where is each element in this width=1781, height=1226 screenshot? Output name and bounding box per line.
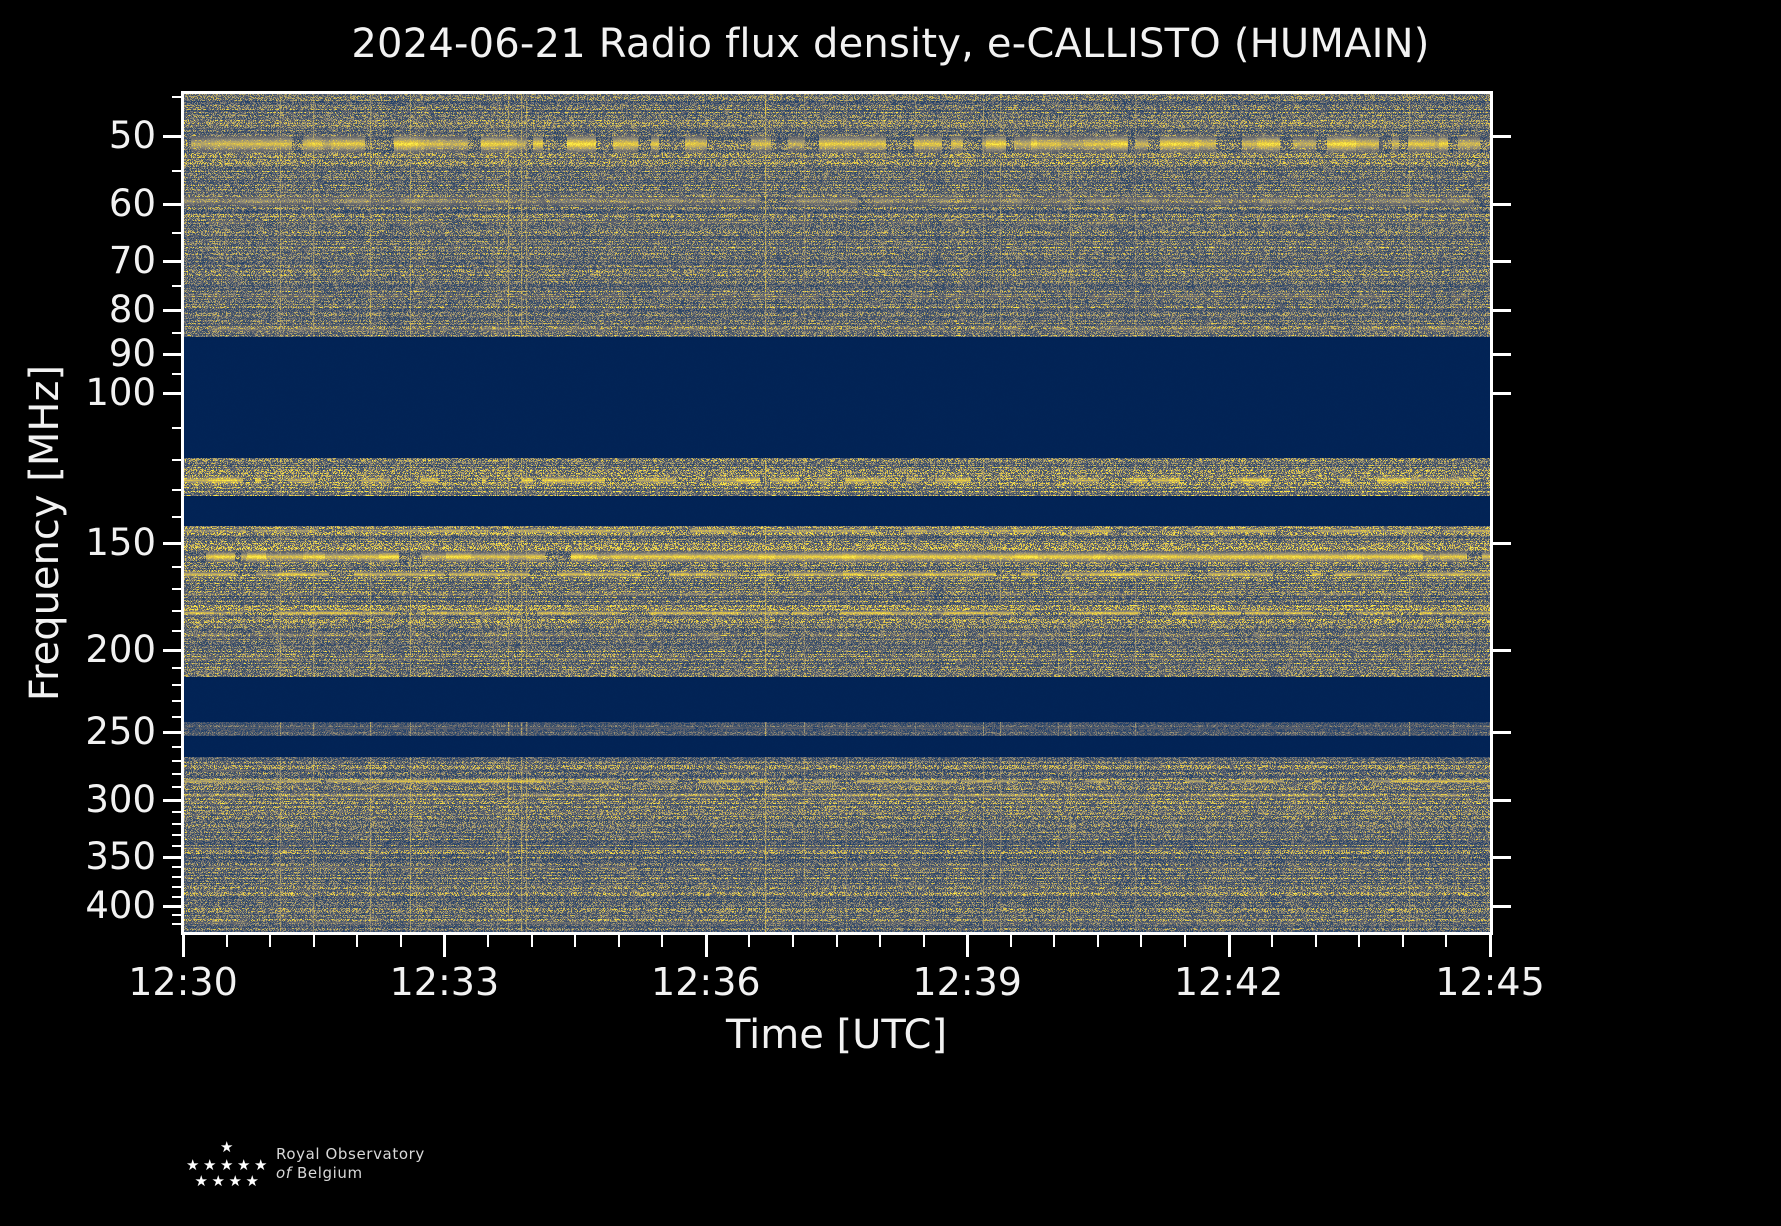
y-minor-tick xyxy=(172,876,183,878)
y-tick-label-70: 70 xyxy=(109,242,156,279)
star-icon: ★ xyxy=(254,1158,267,1173)
star-icon: ★ xyxy=(195,1174,208,1189)
y-tick-label-250: 250 xyxy=(85,713,156,750)
x-minor-tick xyxy=(269,935,271,947)
y-minor-tick xyxy=(172,760,183,762)
y-minor-tick xyxy=(172,516,183,518)
star-icon: ★ xyxy=(220,1158,233,1173)
y-tick-label-50: 50 xyxy=(109,117,156,154)
y-minor-tick xyxy=(172,427,183,429)
y-minor-tick xyxy=(172,773,183,775)
star-icon: ★ xyxy=(212,1174,225,1189)
x-minor-tick xyxy=(226,935,228,947)
y-minor-tick xyxy=(172,786,183,788)
x-tick-12:45 xyxy=(1489,935,1492,957)
y-minor-tick xyxy=(172,886,183,888)
x-minor-tick xyxy=(1271,935,1273,947)
y-tick-right-300 xyxy=(1491,799,1511,802)
y-tick-350 xyxy=(163,856,183,859)
x-minor-tick xyxy=(574,935,576,947)
x-tick-label-12:36: 12:36 xyxy=(651,962,761,1002)
y-minor-tick xyxy=(172,845,183,847)
y-tick-right-350 xyxy=(1491,856,1511,859)
y-tick-label-300: 300 xyxy=(85,781,156,818)
y-tick-300 xyxy=(163,799,183,802)
y-minor-tick xyxy=(172,834,183,836)
x-minor-tick xyxy=(1445,935,1447,947)
x-minor-tick xyxy=(836,935,838,947)
spectrogram-plot-area[interactable] xyxy=(183,93,1490,933)
y-minor-tick xyxy=(172,489,183,491)
y-axis-label: Frequency [MHz] xyxy=(25,113,65,953)
x-minor-tick xyxy=(1402,935,1404,947)
logo-line-2: of Belgium xyxy=(276,1164,425,1183)
x-minor-tick xyxy=(313,935,315,947)
y-minor-tick xyxy=(172,914,183,916)
axis-spine-right xyxy=(1490,91,1493,935)
x-minor-tick xyxy=(661,935,663,947)
y-minor-tick xyxy=(172,667,183,669)
star-icon: ★ xyxy=(246,1174,259,1189)
y-tick-right-60 xyxy=(1491,203,1511,206)
y-tick-label-200: 200 xyxy=(85,631,156,668)
x-tick-12:33 xyxy=(443,935,446,957)
y-minor-tick xyxy=(172,285,183,287)
x-minor-tick xyxy=(1140,935,1142,947)
x-minor-tick xyxy=(618,935,620,947)
y-tick-200 xyxy=(163,649,183,652)
y-tick-right-250 xyxy=(1491,731,1511,734)
spectrogram-image xyxy=(183,93,1490,933)
logo-of: of xyxy=(276,1164,292,1182)
y-tick-50 xyxy=(163,135,183,138)
y-tick-150 xyxy=(163,542,183,545)
y-tick-label-150: 150 xyxy=(85,524,156,561)
stars-icon: ★★★★★★★★★★ xyxy=(178,1138,262,1190)
y-tick-right-50 xyxy=(1491,135,1511,138)
axis-spine-left xyxy=(181,91,184,935)
y-minor-tick xyxy=(172,811,183,813)
y-tick-right-400 xyxy=(1491,905,1511,908)
royal-observatory-logo: ★★★★★★★★★★ Royal Observatory of Belgium xyxy=(178,1138,425,1190)
y-minor-tick xyxy=(172,459,183,461)
y-tick-60 xyxy=(163,203,183,206)
y-minor-tick xyxy=(172,823,183,825)
x-minor-tick xyxy=(879,935,881,947)
x-minor-tick xyxy=(356,935,358,947)
y-minor-tick xyxy=(172,588,183,590)
y-minor-tick xyxy=(172,923,183,925)
y-minor-tick xyxy=(172,866,183,868)
x-minor-tick xyxy=(923,935,925,947)
star-icon: ★ xyxy=(203,1158,216,1173)
x-minor-tick xyxy=(1097,935,1099,947)
x-tick-label-12:39: 12:39 xyxy=(912,962,1022,1002)
star-icon: ★ xyxy=(229,1174,242,1189)
logo-country: Belgium xyxy=(297,1164,363,1182)
y-tick-right-80 xyxy=(1491,309,1511,312)
axis-spine-top xyxy=(181,91,1493,94)
y-tick-400 xyxy=(163,905,183,908)
x-minor-tick xyxy=(792,935,794,947)
y-tick-right-150 xyxy=(1491,542,1511,545)
logo-text: Royal Observatory of Belgium xyxy=(276,1145,425,1183)
y-minor-tick xyxy=(172,232,183,234)
y-minor-tick xyxy=(172,700,183,702)
x-tick-12:36 xyxy=(705,935,708,957)
y-tick-label-400: 400 xyxy=(85,887,156,924)
y-tick-right-90 xyxy=(1491,353,1511,356)
x-tick-label-12:45: 12:45 xyxy=(1435,962,1545,1002)
radio-spectrogram-figure: 2024-06-21 Radio flux density, e-CALLIST… xyxy=(0,0,1781,1226)
x-tick-12:39 xyxy=(966,935,969,957)
y-tick-70 xyxy=(163,260,183,263)
y-tick-right-100 xyxy=(1491,392,1511,395)
y-tick-80 xyxy=(163,309,183,312)
y-tick-label-80: 80 xyxy=(109,291,156,328)
x-minor-tick xyxy=(1315,935,1317,947)
star-icon: ★ xyxy=(237,1158,250,1173)
x-tick-label-12:30: 12:30 xyxy=(128,962,238,1002)
y-tick-right-70 xyxy=(1491,260,1511,263)
y-minor-tick xyxy=(172,373,183,375)
x-minor-tick xyxy=(487,935,489,947)
x-tick-12:30 xyxy=(182,935,185,957)
x-minor-tick xyxy=(1010,935,1012,947)
logo-line-1: Royal Observatory xyxy=(276,1145,425,1164)
x-axis-label: Time [UTC] xyxy=(183,1013,1490,1057)
x-tick-label-12:33: 12:33 xyxy=(390,962,500,1002)
y-tick-label-100: 100 xyxy=(85,374,156,411)
y-minor-tick xyxy=(172,566,183,568)
star-icon: ★ xyxy=(220,1140,233,1155)
page-title: 2024-06-21 Radio flux density, e-CALLIST… xyxy=(0,18,1781,70)
y-minor-tick xyxy=(172,896,183,898)
y-minor-tick xyxy=(172,630,183,632)
x-minor-tick xyxy=(1358,935,1360,947)
y-minor-tick xyxy=(172,170,183,172)
x-minor-tick xyxy=(531,935,533,947)
y-minor-tick xyxy=(172,332,183,334)
y-minor-tick xyxy=(172,716,183,718)
x-tick-label-12:42: 12:42 xyxy=(1174,962,1284,1002)
y-tick-label-60: 60 xyxy=(109,185,156,222)
y-minor-tick xyxy=(172,96,183,98)
star-icon: ★ xyxy=(186,1158,199,1173)
x-minor-tick xyxy=(748,935,750,947)
y-minor-tick xyxy=(172,746,183,748)
y-tick-100 xyxy=(163,392,183,395)
y-tick-label-350: 350 xyxy=(85,838,156,875)
y-tick-250 xyxy=(163,731,183,734)
x-minor-tick xyxy=(1053,935,1055,947)
y-minor-tick xyxy=(172,684,183,686)
y-minor-tick xyxy=(172,610,183,612)
y-tick-90 xyxy=(163,353,183,356)
y-tick-right-200 xyxy=(1491,649,1511,652)
x-minor-tick xyxy=(1184,935,1186,947)
x-tick-12:42 xyxy=(1228,935,1231,957)
x-minor-tick xyxy=(400,935,402,947)
y-tick-label-90: 90 xyxy=(109,335,156,372)
